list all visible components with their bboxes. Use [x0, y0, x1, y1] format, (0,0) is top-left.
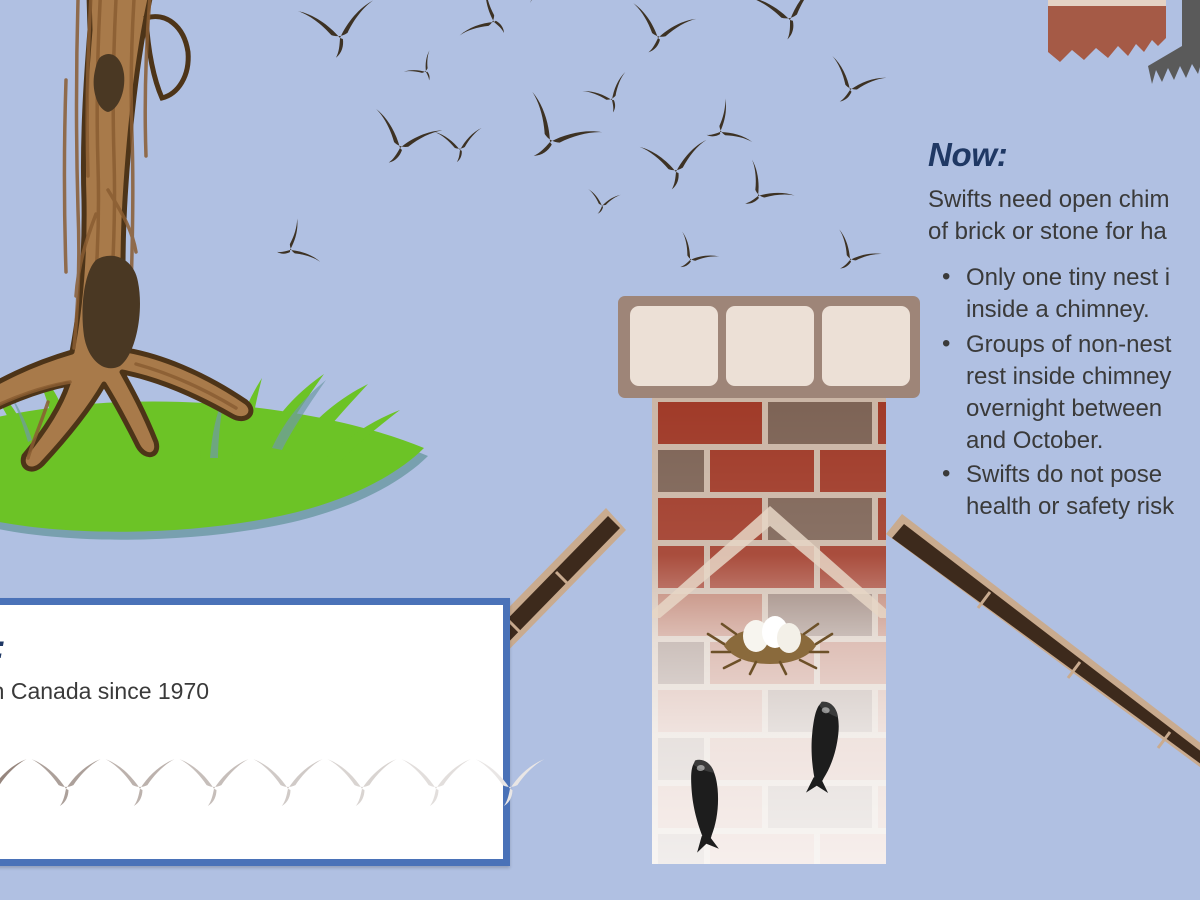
- now-heading: Now:: [928, 136, 1200, 174]
- brick-chimney: [604, 288, 934, 864]
- decline-bird-3: [29, 745, 103, 819]
- historically-line: wifts: [0, 36, 134, 69]
- infographic-canvas: ally. wifts w eir t this s arce. Now: Sw…: [0, 0, 1200, 900]
- decline-subtitle: ation loss in Canada since 1970: [0, 678, 477, 705]
- historically-column: ally. wifts w eir t this s arce.: [0, 0, 134, 236]
- decline-bird-7: [325, 745, 399, 819]
- now-intro-line: Swifts need open chim: [928, 184, 1200, 216]
- bullet-line: Only one tiny nest i: [966, 262, 1200, 294]
- historically-line: arce.: [0, 202, 134, 235]
- decline-bird-5: [177, 745, 251, 819]
- historically-body: wifts w eir t this s arce.: [0, 36, 134, 236]
- bullet-line: rest inside chimney: [966, 361, 1200, 393]
- decline-bird-6: [251, 745, 325, 819]
- list-item: Groups of non-nest rest inside chimney o…: [966, 329, 1200, 458]
- bullet-line: inside a chimney.: [966, 294, 1200, 326]
- bullet-line: Groups of non-nest: [966, 329, 1200, 361]
- decline-bird-9: [473, 745, 547, 819]
- decline-callout-box: Decline: ation loss in Canada since 1970: [0, 598, 510, 866]
- decline-bird-8: [399, 745, 473, 819]
- historically-line: s: [0, 169, 134, 202]
- now-column: Now: Swifts need open chim of brick or s…: [928, 136, 1200, 526]
- historically-line: eir: [0, 103, 134, 136]
- bullet-line: health or safety risk: [966, 491, 1200, 523]
- bullet-line: Swifts do not pose: [966, 459, 1200, 491]
- list-item: Only one tiny nest i inside a chimney.: [966, 262, 1200, 326]
- historically-line: t this: [0, 136, 134, 169]
- decline-bird-2: [0, 745, 29, 819]
- broken-chimney: [1048, 0, 1200, 106]
- chimney-cap: [618, 296, 920, 398]
- now-bullet-list: Only one tiny nest i inside a chimney. G…: [928, 262, 1200, 523]
- now-intro: Swifts need open chim of brick or stone …: [928, 184, 1200, 248]
- bullet-line: and October.: [966, 425, 1200, 457]
- now-intro-line: of brick or stone for ha: [928, 216, 1200, 248]
- list-item: Swifts do not pose health or safety risk: [966, 459, 1200, 523]
- decline-pictogram-row: [0, 737, 501, 837]
- decline-heading: Decline:: [0, 629, 477, 666]
- historically-line: w: [0, 69, 134, 102]
- bullet-line: overnight between: [966, 393, 1200, 425]
- swift-flock: [250, 0, 890, 280]
- historically-heading: ally.: [0, 0, 134, 26]
- decline-bird-4: [103, 745, 177, 819]
